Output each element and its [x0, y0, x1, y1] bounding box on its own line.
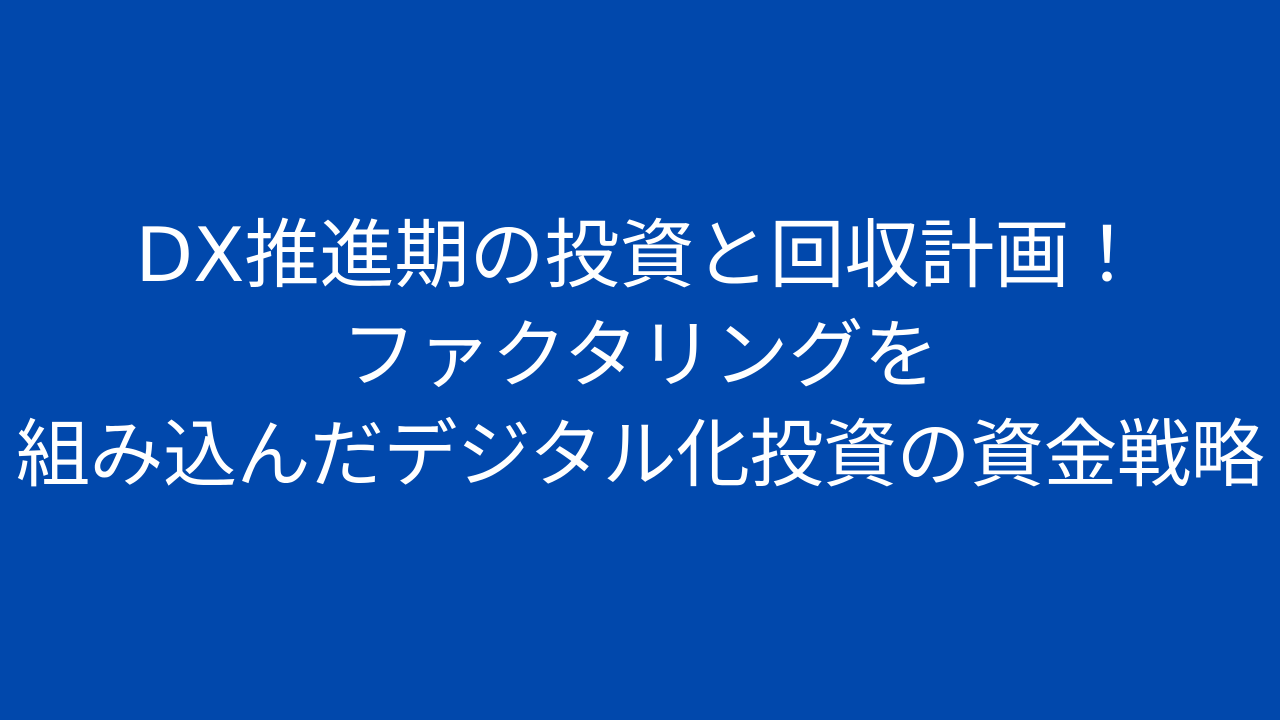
title-line-1: DX推進期の投資と回収計画！ [0, 205, 1280, 305]
title-line-3: 組み込んだデジタル化投資の資金戦略 [0, 405, 1280, 505]
title-line-2: ファクタリングを [0, 305, 1280, 405]
title-block: DX推進期の投資と回収計画！ ファクタリングを 組み込んだデジタル化投資の資金戦… [0, 205, 1280, 505]
slide-canvas: DX推進期の投資と回収計画！ ファクタリングを 組み込んだデジタル化投資の資金戦… [0, 0, 1280, 720]
